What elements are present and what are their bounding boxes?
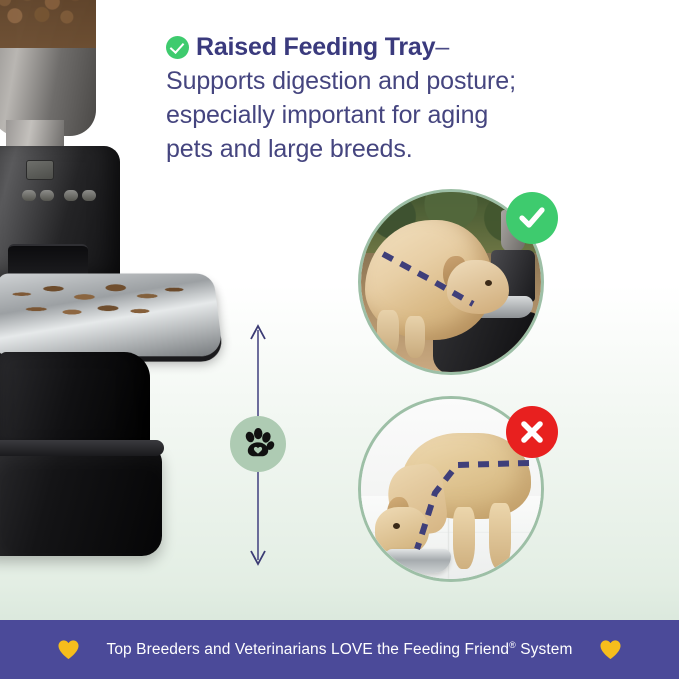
green-check-badge [506, 192, 558, 244]
paw-print-icon [241, 427, 275, 461]
footer-text-suffix: System [516, 641, 573, 658]
control-button [22, 190, 36, 201]
close-icon [517, 417, 547, 447]
stainless-feeding-tray [0, 273, 223, 356]
headline-body-line-1: Supports digestion and posture; [166, 64, 586, 98]
headline-block: Raised Feeding Tray– Supports digestion … [166, 30, 586, 166]
headline-body-line-3: pets and large breeds. [166, 132, 586, 166]
control-buttons [22, 190, 108, 203]
footer-text: Top Breeders and Veterinarians LOVE the … [106, 640, 572, 659]
height-indicator [222, 316, 282, 574]
catch-basin [0, 446, 162, 556]
headline-title-line: Raised Feeding Tray– [166, 30, 586, 64]
green-check-circle-icon [166, 36, 189, 59]
kibble-in-tray [0, 281, 202, 328]
page-title: Raised Feeding Tray [196, 33, 435, 61]
paw-badge [230, 416, 286, 472]
red-x-badge [506, 406, 558, 458]
infographic-canvas: Raised Feeding Tray– Supports digestion … [0, 0, 679, 679]
footer-banner: Top Breeders and Veterinarians LOVE the … [0, 620, 679, 679]
basin-lip [0, 440, 164, 456]
headline-body-line-2: especially important for aging [166, 98, 586, 132]
registered-mark: ® [509, 640, 516, 650]
hopper-kibble [0, 0, 96, 48]
footer-text-main: Top Breeders and Veterinarians LOVE the … [106, 641, 509, 658]
control-button [82, 190, 96, 201]
headline-dash: – [435, 33, 449, 61]
lcd-screen-icon [26, 160, 54, 180]
heart-icon [599, 639, 622, 660]
control-button [64, 190, 78, 201]
check-icon [517, 203, 547, 233]
control-button [40, 190, 54, 201]
feeder-control-body [0, 146, 120, 286]
heart-icon [57, 639, 80, 660]
kibble-hopper [0, 0, 96, 136]
